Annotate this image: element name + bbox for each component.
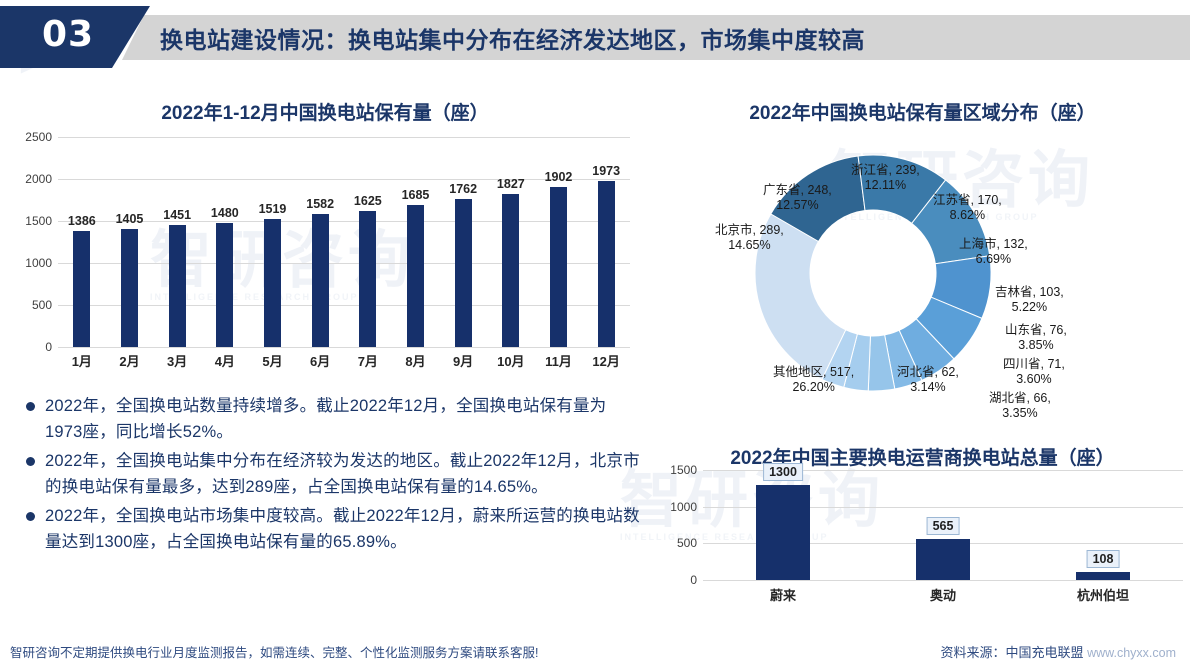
donut-slice-label: 浙江省, 239,12.11% xyxy=(851,163,920,193)
donut-slice-label: 四川省, 71,3.60% xyxy=(1003,357,1065,387)
footer-source-text: 资料来源：中国充电联盟 xyxy=(940,645,1083,660)
monthly-stock-chart: 2022年1-12月中国换电站保有量（座） 050010001500200025… xyxy=(10,98,640,388)
region-distribution-chart: 2022年中国换电站保有量区域分布（座） 北京市, 289,14.65%广东省,… xyxy=(655,98,1190,443)
bar-value-label: 1827 xyxy=(497,177,525,191)
footer-note: 智研咨询不定期提供换电行业月度监测报告，如需连续、完整、个性化监测服务方案请联系… xyxy=(10,642,538,661)
bar xyxy=(312,214,329,347)
monthly-stock-x-axis: 1月2月3月4月5月6月7月8月9月10月11月12月 xyxy=(10,347,640,371)
bar xyxy=(169,225,186,347)
bar xyxy=(550,187,567,347)
bullet-list: 2022年，全国换电站数量持续增多。截止2022年12月，全国换电站保有量为19… xyxy=(18,393,643,558)
region-distribution-chart-title: 2022年中国换电站保有量区域分布（座） xyxy=(655,98,1190,125)
bar xyxy=(455,199,472,347)
y-axis-tick-label: 1000 xyxy=(655,500,697,514)
x-axis-tick-label: 杭州伯坦 xyxy=(1077,585,1129,604)
bar-value-label: 565 xyxy=(927,517,960,535)
bar-value-label: 1405 xyxy=(116,212,144,226)
donut-slice-label: 其他地区, 517,26.20% xyxy=(773,365,854,395)
x-axis-tick-label: 7月 xyxy=(344,351,392,370)
x-axis-tick-label: 12月 xyxy=(582,351,630,370)
x-axis-tick-label: 6月 xyxy=(296,351,344,370)
bar-value-label: 1519 xyxy=(259,202,287,216)
bar-value-label: 1386 xyxy=(68,214,96,228)
x-axis-tick-label: 5月 xyxy=(249,351,297,370)
bar xyxy=(756,485,810,580)
bar-value-label: 1625 xyxy=(354,194,382,208)
operators-plot-area: 0500100015001300565108 xyxy=(703,470,1183,580)
x-axis-tick-label: 11月 xyxy=(535,351,583,370)
donut-slice-label: 河北省, 62,3.14% xyxy=(897,365,959,395)
bar xyxy=(407,205,424,347)
x-axis-tick-label: 3月 xyxy=(153,351,201,370)
bar-column: 1762 xyxy=(439,137,487,347)
donut-slice-label: 北京市, 289,14.65% xyxy=(715,223,784,253)
bar xyxy=(598,181,615,347)
y-axis-tick-label: 500 xyxy=(655,536,697,550)
bar-column: 1902 xyxy=(535,137,583,347)
slide-footer: 智研咨询不定期提供换电行业月度监测报告，如需连续、完整、个性化监测服务方案请联系… xyxy=(0,635,1190,669)
bullet-text: 2022年，全国换电站集中分布在经济较为发达的地区。截止2022年12月，北京市… xyxy=(45,448,643,500)
bar-column: 1582 xyxy=(296,137,344,347)
bar xyxy=(264,219,281,347)
donut-plot-area: 北京市, 289,14.65%广东省, 248,12.57%浙江省, 239,1… xyxy=(655,125,1190,425)
bar xyxy=(1076,572,1130,580)
bar xyxy=(502,194,519,347)
x-axis-tick-label: 4月 xyxy=(201,351,249,370)
y-axis-tick-label: 1500 xyxy=(655,463,697,477)
x-axis-tick-label: 2月 xyxy=(106,351,154,370)
bar-value-label: 1973 xyxy=(592,164,620,178)
donut-slice-label: 湖北省, 66,3.35% xyxy=(989,391,1051,421)
bar-value-label: 1685 xyxy=(402,188,430,202)
bar xyxy=(73,231,90,347)
bullet-text: 2022年，全国换电站市场集中度较高。截止2022年12月，蔚来所运营的换电站数… xyxy=(45,503,643,555)
list-item: 2022年，全国换电站集中分布在经济较为发达的地区。截止2022年12月，北京市… xyxy=(18,448,643,500)
section-number: 03 xyxy=(42,14,94,55)
operators-chart-title: 2022年中国主要换电运营商换电站总量（座） xyxy=(655,443,1190,470)
monthly-stock-plot-area: 0500100015002000250013861405145114801519… xyxy=(58,137,630,347)
x-axis-tick-label: 10月 xyxy=(487,351,535,370)
bar-column: 1973 xyxy=(582,137,630,347)
footer-source: 资料来源：中国充电联盟 www.chyxx.com xyxy=(940,642,1176,661)
monthly-stock-chart-title: 2022年1-12月中国换电站保有量（座） xyxy=(10,98,640,125)
bar xyxy=(121,229,138,347)
bar-value-label: 1300 xyxy=(763,463,803,481)
bar-value-label: 1762 xyxy=(449,182,477,196)
bar-value-label: 108 xyxy=(1087,550,1120,568)
donut-slice-label: 上海市, 132,6.69% xyxy=(959,237,1028,267)
donut-slice-label: 江苏省, 170,8.62% xyxy=(933,193,1002,223)
y-axis-tick-label: 1500 xyxy=(10,214,52,228)
operators-x-axis: 蔚来奥动杭州伯坦 xyxy=(655,580,1190,602)
x-axis-tick-label: 蔚来 xyxy=(770,585,796,604)
bar xyxy=(916,539,970,580)
bar xyxy=(216,223,233,347)
page-title: 换电站建设情况：换电站集中分布在经济发达地区，市场集中度较高 xyxy=(160,21,865,55)
bullet-dot-icon xyxy=(26,457,35,466)
x-axis-tick-label: 9月 xyxy=(439,351,487,370)
y-axis-tick-label: 500 xyxy=(10,298,52,312)
bullet-text: 2022年，全国换电站数量持续增多。截止2022年12月，全国换电站保有量为19… xyxy=(45,393,643,445)
bar-value-label: 1582 xyxy=(306,197,334,211)
donut-slice-label: 吉林省, 103,5.22% xyxy=(995,285,1064,315)
bar-column: 1386 xyxy=(58,137,106,347)
operators-chart: 2022年中国主要换电运营商换电站总量（座） 05001000150013005… xyxy=(655,443,1190,628)
bullet-dot-icon xyxy=(26,402,35,411)
list-item: 2022年，全国换电站市场集中度较高。截止2022年12月，蔚来所运营的换电站数… xyxy=(18,503,643,555)
x-axis-tick-label: 1月 xyxy=(58,351,106,370)
bar-value-label: 1480 xyxy=(211,206,239,220)
bar-value-label: 1451 xyxy=(163,208,191,222)
y-axis-tick-label: 1000 xyxy=(10,256,52,270)
y-axis-tick-label: 2500 xyxy=(10,130,52,144)
bar-column: 1451 xyxy=(153,137,201,347)
bar-column: 1625 xyxy=(344,137,392,347)
bar-value-label: 1902 xyxy=(545,170,573,184)
x-axis-tick-label: 8月 xyxy=(392,351,440,370)
donut-slice-label: 山东省, 76,3.85% xyxy=(1005,323,1067,353)
slide-header: 03 换电站建设情况：换电站集中分布在经济发达地区，市场集中度较高 xyxy=(0,6,1190,68)
bar-column: 1405 xyxy=(106,137,154,347)
x-axis-tick-label: 奥动 xyxy=(930,585,956,604)
list-item: 2022年，全国换电站数量持续增多。截止2022年12月，全国换电站保有量为19… xyxy=(18,393,643,445)
bar xyxy=(359,211,376,348)
y-axis-tick-label: 2000 xyxy=(10,172,52,186)
bar-column: 1519 xyxy=(249,137,297,347)
bar-column: 1685 xyxy=(392,137,440,347)
donut-slice-label: 广东省, 248,12.57% xyxy=(763,183,832,213)
bar-column: 1480 xyxy=(201,137,249,347)
bar-column: 1827 xyxy=(487,137,535,347)
footer-url: www.chyxx.com xyxy=(1087,646,1176,660)
bullet-dot-icon xyxy=(26,512,35,521)
